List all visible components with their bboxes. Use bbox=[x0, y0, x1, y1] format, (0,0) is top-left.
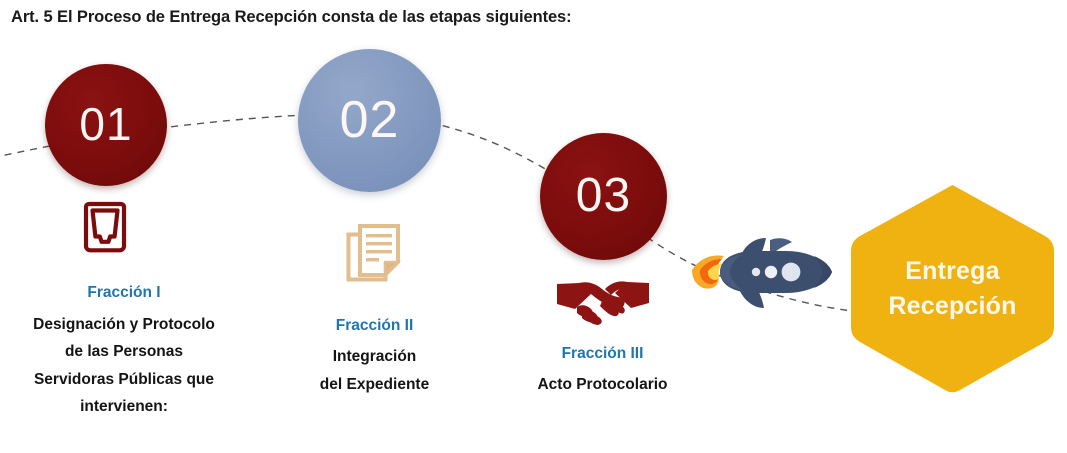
step-number-02: 02 bbox=[340, 94, 400, 146]
fraccion-label-01: Fracción I bbox=[0, 284, 248, 302]
fraccion-label-03: Fracción III bbox=[500, 345, 705, 363]
rocket-icon bbox=[686, 228, 834, 318]
description-line: intervienen: bbox=[0, 393, 248, 420]
description-line: Designación y Protocolo bbox=[0, 311, 248, 338]
description-line: de las Personas bbox=[0, 338, 248, 365]
goal-label-line1: Entrega bbox=[905, 254, 999, 290]
step-number-01: 01 bbox=[79, 101, 132, 147]
step-texts-03: Fracción III Acto Protocolario bbox=[500, 345, 705, 399]
handshake-icon bbox=[557, 277, 649, 325]
fraccion-label-02: Fracción II bbox=[272, 317, 477, 335]
page-title: Art. 5 El Proceso de Entrega Recepción c… bbox=[11, 8, 911, 27]
goal-label-line2: Recepción bbox=[888, 289, 1016, 325]
description-line: del Expediente bbox=[272, 371, 477, 399]
description-line: Acto Protocolario bbox=[500, 371, 705, 399]
description-line: Servidoras Públicas que bbox=[0, 366, 248, 393]
infographic-canvas: Art. 5 El Proceso de Entrega Recepción c… bbox=[0, 0, 1067, 453]
step-description-03: Acto Protocolario bbox=[500, 371, 705, 399]
step-description-01: Designación y Protocolo de las Personas … bbox=[0, 311, 248, 421]
step-number-03: 03 bbox=[576, 172, 631, 220]
step-texts-01: Fracción I Designación y Protocolo de la… bbox=[0, 284, 248, 421]
step-circle-01[interactable]: 01 bbox=[45, 64, 167, 186]
rocket-flame-icon bbox=[692, 256, 724, 289]
step-description-02: Integración del Expediente bbox=[272, 343, 477, 399]
inbox-tray-icon bbox=[76, 200, 134, 258]
step-circle-03[interactable]: 03 bbox=[540, 133, 667, 260]
step-circle-02[interactable]: 02 bbox=[298, 49, 441, 192]
description-line: Integración bbox=[272, 343, 477, 371]
goal-label: Entrega Recepción bbox=[845, 182, 1060, 396]
documents-icon bbox=[345, 222, 405, 286]
step-texts-02: Fracción II Integración del Expediente bbox=[272, 317, 477, 399]
